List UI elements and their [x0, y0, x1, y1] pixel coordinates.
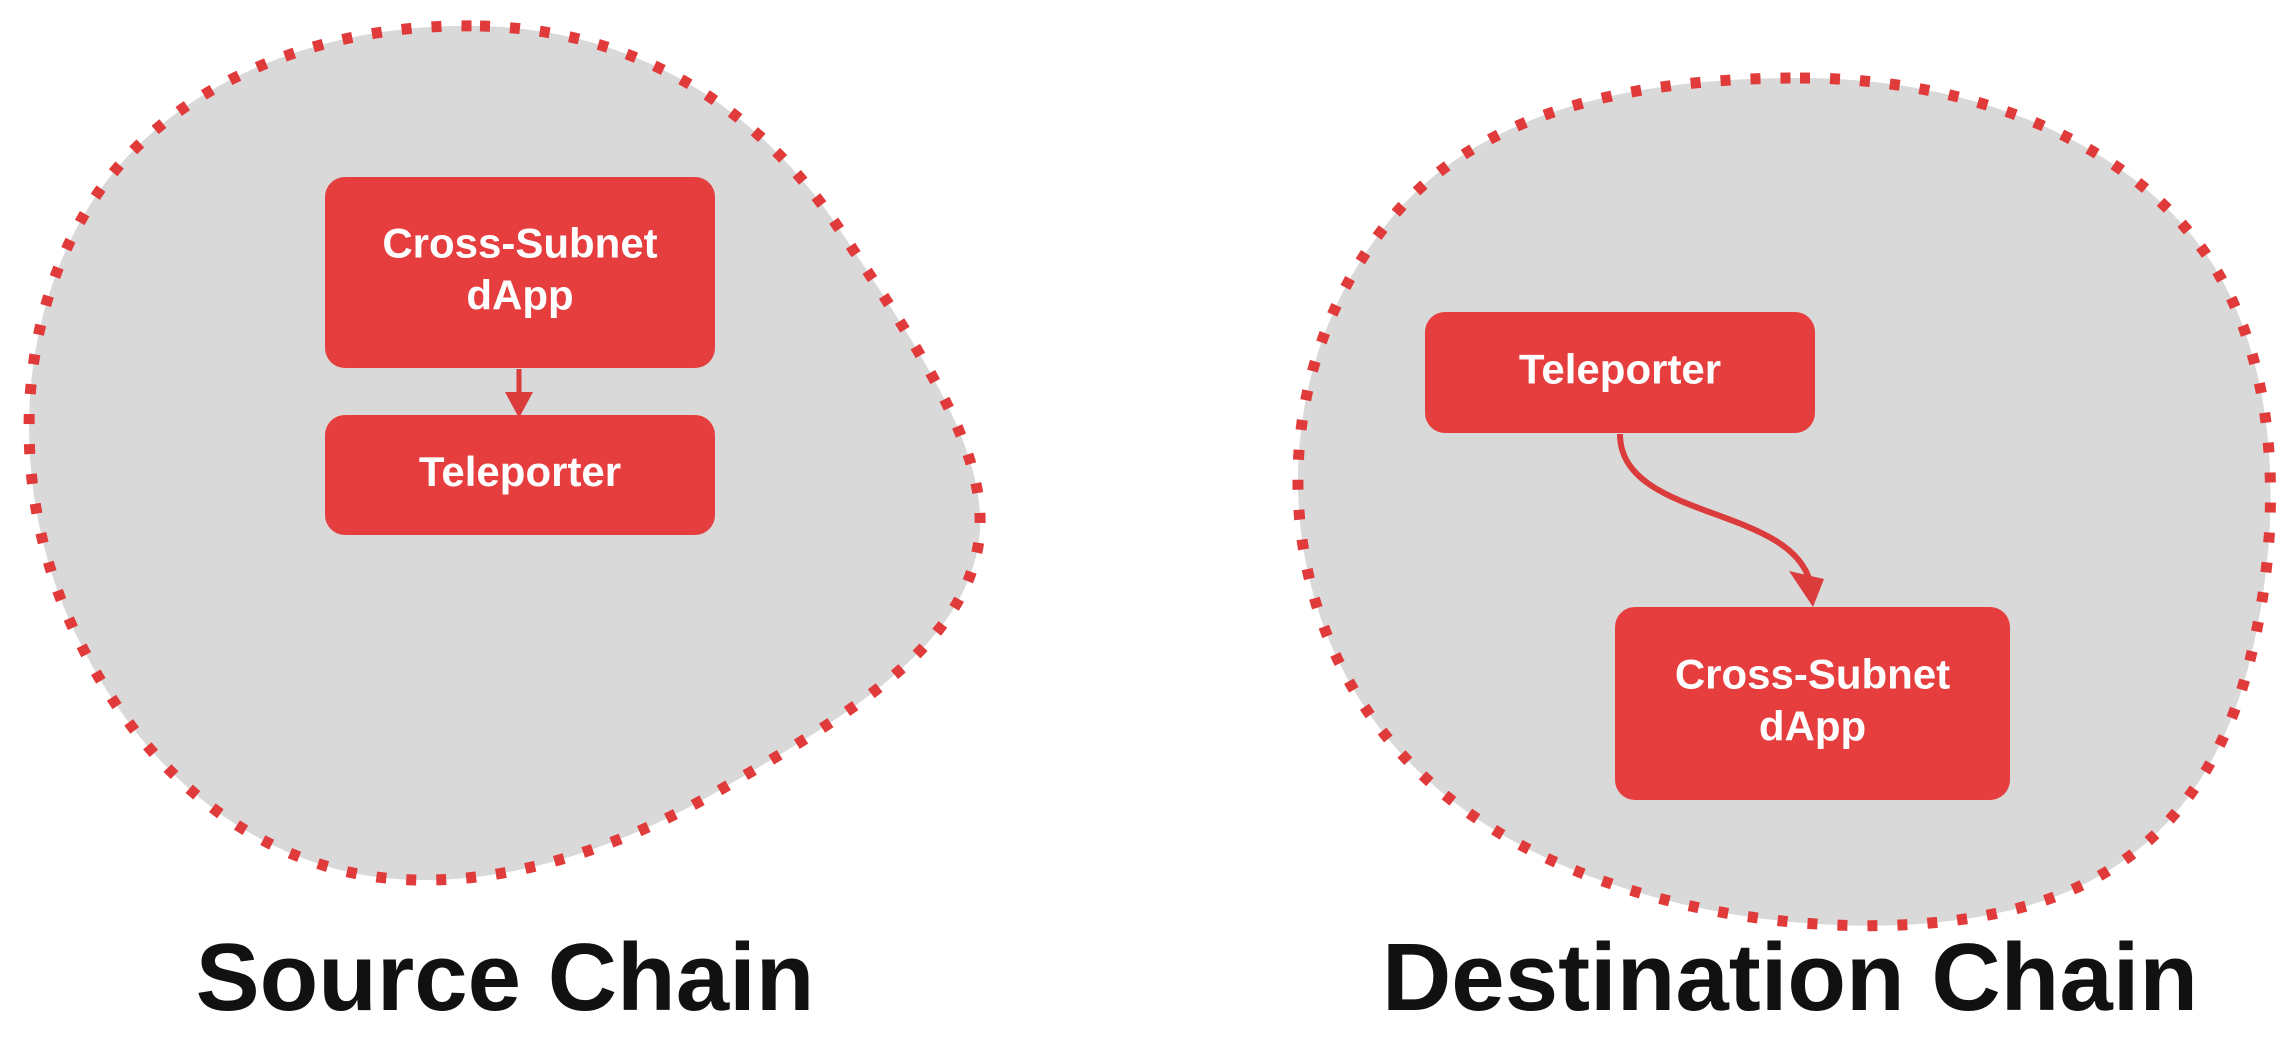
- node-label-line-1: Cross-Subnet: [382, 220, 657, 267]
- node-label-line-2: dApp: [466, 272, 573, 319]
- node-label-line-2: dApp: [1759, 703, 1866, 750]
- panel-source-chain: Cross-Subnet dApp Teleporter Source Chai…: [29, 26, 980, 1031]
- node-dest-dapp[interactable]: Cross-Subnet dApp: [1615, 607, 2010, 800]
- node-source-teleporter[interactable]: Teleporter: [325, 415, 715, 535]
- diagram-canvas: Cross-Subnet dApp Teleporter Source Chai…: [0, 0, 2292, 1054]
- panel-destination-chain: Teleporter Cross-Subnet dApp Destination…: [1298, 78, 2271, 1031]
- node-dest-teleporter[interactable]: Teleporter: [1425, 312, 1815, 433]
- cross-subnet-messaging-diagram: Cross-Subnet dApp Teleporter Source Chai…: [0, 0, 2292, 1054]
- node-label-line-1: Teleporter: [419, 448, 621, 495]
- node-source-dapp[interactable]: Cross-Subnet dApp: [325, 177, 715, 368]
- panel-title-source-chain: Source Chain: [196, 924, 815, 1031]
- panel-title-destination-chain: Destination Chain: [1382, 924, 2198, 1031]
- node-label-line-1: Cross-Subnet: [1675, 651, 1950, 698]
- node-label-line-1: Teleporter: [1519, 346, 1721, 393]
